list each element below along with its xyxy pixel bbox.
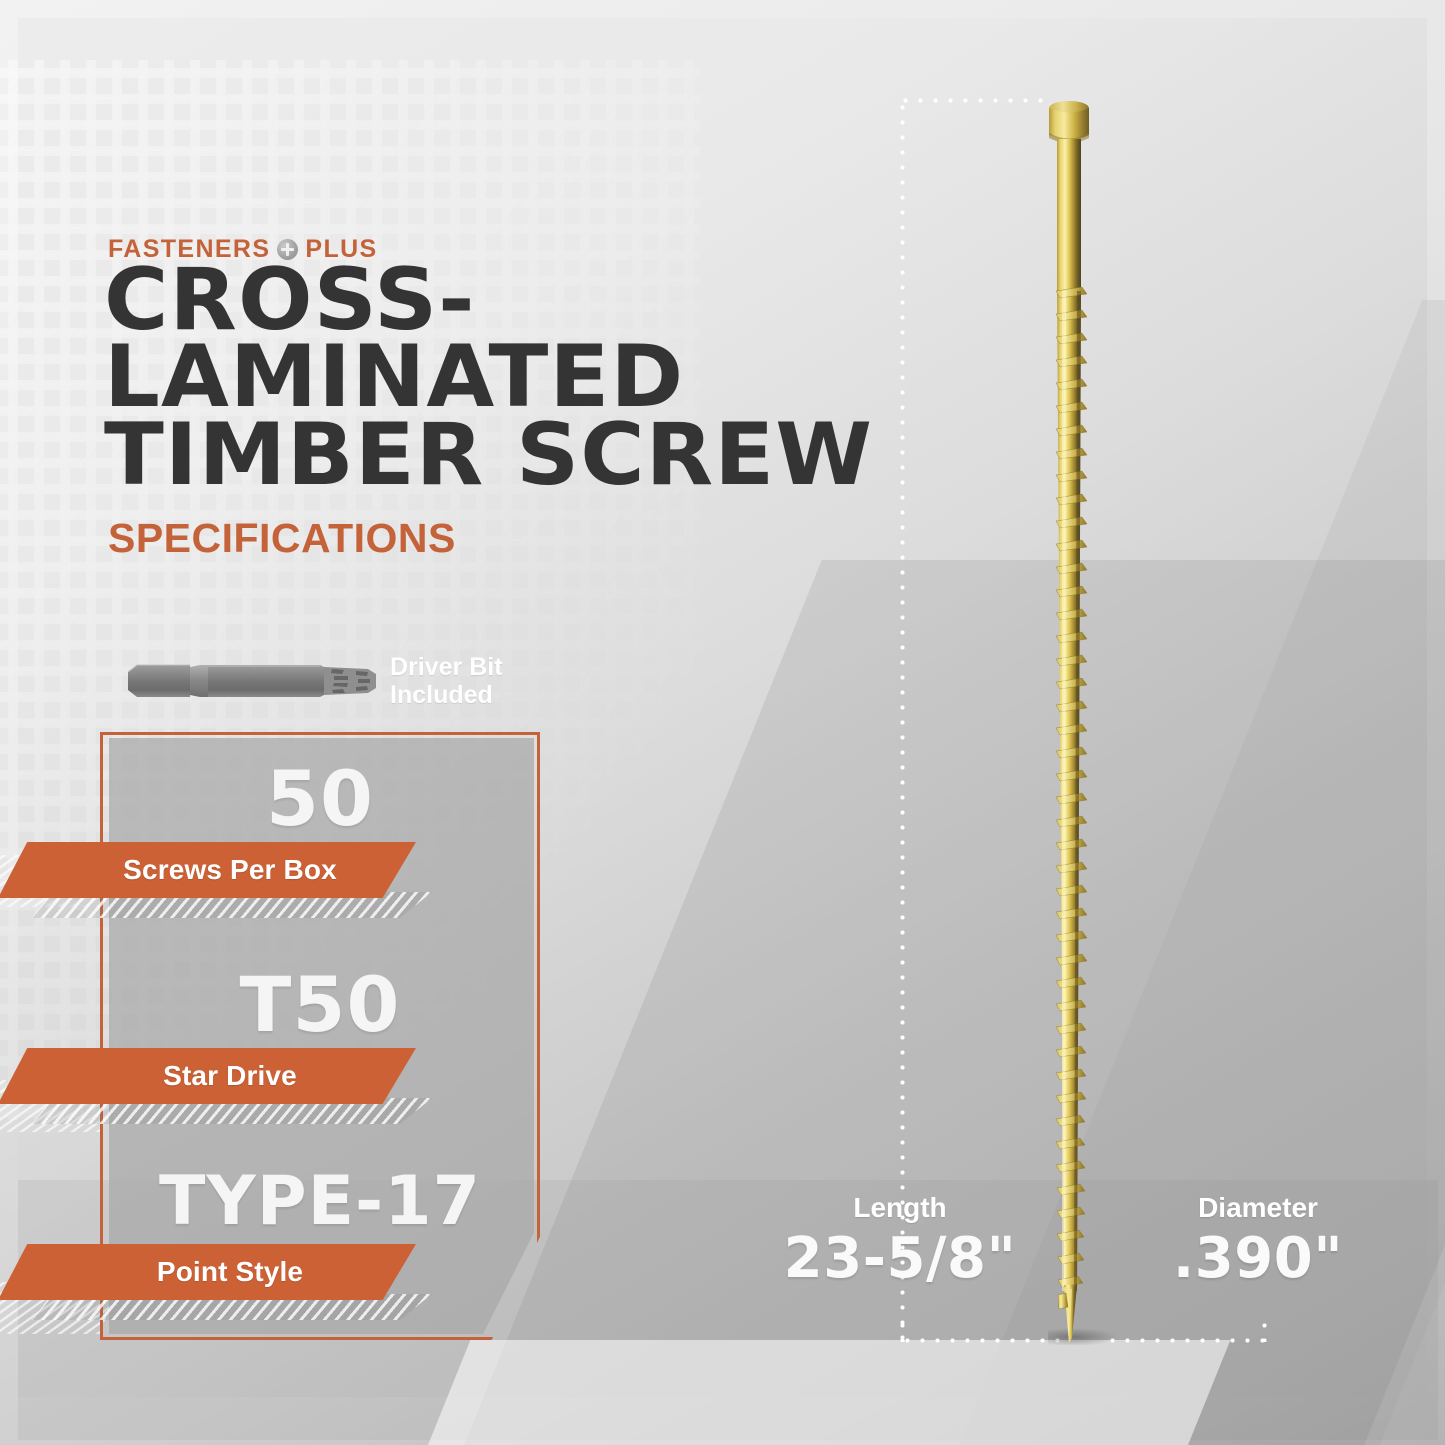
length-top-guide [898,98,1046,103]
ribbon-body: Point Style [0,1244,416,1300]
dimension-diameter: Diameter .390" [1118,1192,1398,1291]
ribbon-body: Screws Per Box [0,842,416,898]
driver-bit-label: Driver Bit Included [390,653,620,709]
page-subtitle: SPECIFICATIONS [108,515,456,562]
diameter-bottom-guide [1105,1338,1265,1343]
spec-item-screws-per-box: 50 Screws Per Box [100,754,540,843]
specifications-panel: 50 Screws Per Box T50 Star Drive TYPE-17 [100,732,540,1340]
spec-value: T50 [100,960,540,1049]
torx-driver-bit-icon [128,660,378,702]
title-line-3: TIMBER SCREW [104,417,981,494]
spec-value: TYPE-17 [100,1162,540,1241]
spec-label: Point Style [111,1256,303,1288]
page-title: CROSS- LAMINATED TIMBER SCREW [104,262,981,494]
spec-item-star-drive: T50 Star Drive [100,960,540,1049]
dimension-label: Length [760,1192,1040,1224]
spec-label: Screws Per Box [77,854,337,886]
spec-ribbon: Point Style [0,1244,416,1300]
driver-bit-label-line-2: Included [390,681,620,709]
spec-item-point-style: TYPE-17 Point Style [100,1162,540,1241]
dimension-value: 23-5/8" [760,1226,1040,1291]
spec-value: 50 [100,754,540,843]
length-vertical-guide [900,100,905,1340]
length-bottom-guide [900,1338,1060,1343]
driver-bit-label-line-1: Driver Bit [390,653,620,681]
infographic-canvas: FASTENERS PLUS CROSS- LAMINATED TIMBER S… [0,0,1445,1445]
ribbon-body: Star Drive [0,1048,416,1104]
spec-label: Star Drive [117,1060,297,1092]
cross-laminated-timber-screw-icon [1048,95,1118,1345]
dimension-length: Length 23-5/8" [760,1192,1040,1291]
dimension-label: Diameter [1118,1192,1398,1224]
spec-ribbon: Star Drive [0,1048,416,1104]
diameter-right-tick [1262,1318,1267,1342]
spec-ribbon: Screws Per Box [0,842,416,898]
length-bottom-tick [900,1318,905,1342]
dimension-value: .390" [1118,1226,1398,1291]
